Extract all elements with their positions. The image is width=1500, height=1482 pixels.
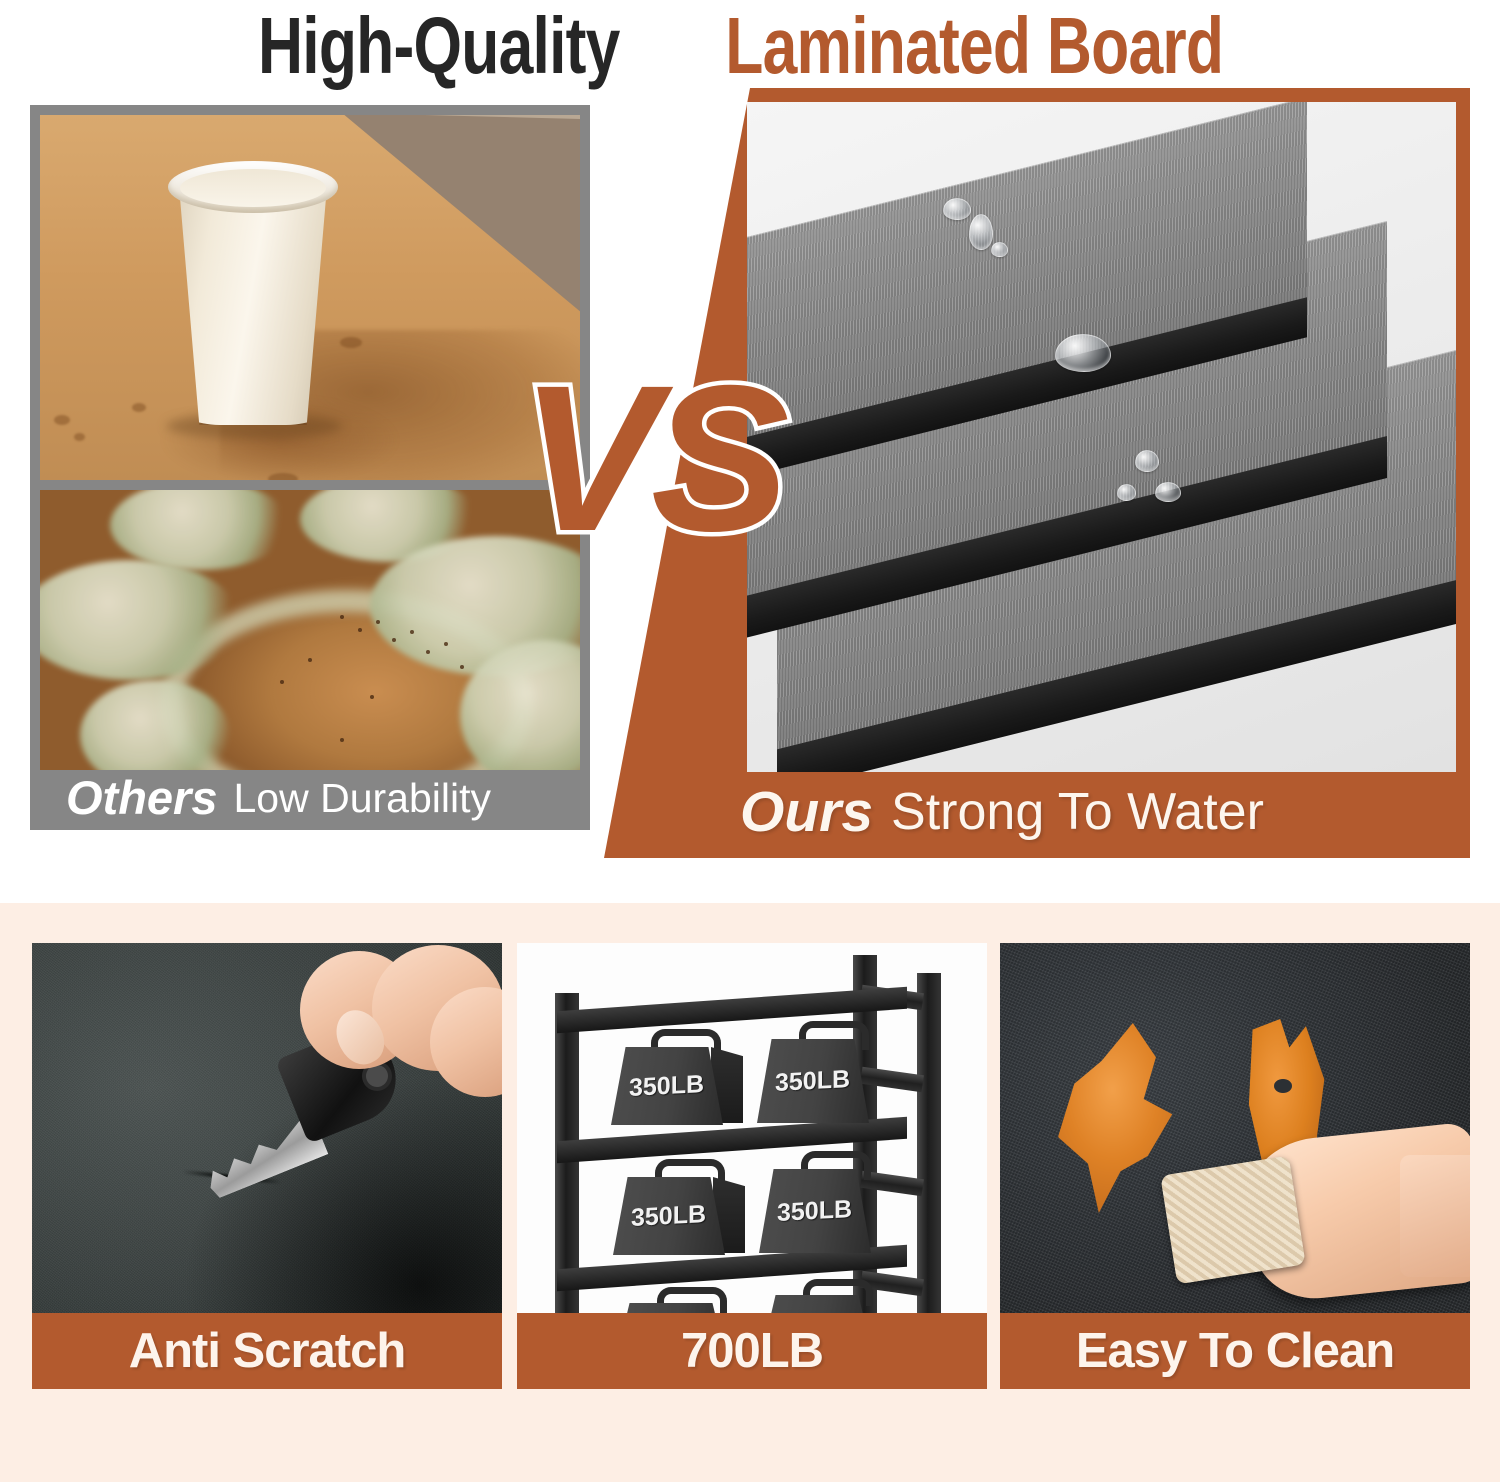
feature-card-easy-clean: Easy To Clean	[1000, 943, 1470, 1443]
feature-caption-label: 700LB	[681, 1323, 823, 1379]
feature-card-anti-scratch: Anti Scratch	[32, 943, 502, 1443]
wrist	[1400, 1155, 1470, 1277]
droplet-icon	[54, 415, 70, 425]
feature-caption-label: Easy To Clean	[1076, 1323, 1394, 1379]
water-drop-icon	[1155, 482, 1181, 502]
shelf-post-left	[555, 993, 579, 1355]
droplet-icon	[132, 403, 146, 412]
features-section: Anti Scratch 350LB	[0, 903, 1500, 1482]
ours-light-label: Strong To Water	[891, 781, 1264, 843]
others-strong-label: Others	[66, 773, 218, 823]
paper-cup	[160, 155, 345, 427]
water-drop-icon	[969, 214, 993, 250]
feature-caption-label: Anti Scratch	[129, 1323, 406, 1379]
others-spill-photo	[40, 115, 580, 480]
cup-interior	[180, 169, 326, 207]
feature-caption-banner: Easy To Clean	[1000, 1313, 1470, 1389]
anti-scratch-photo	[32, 943, 502, 1355]
others-mold-photo	[40, 490, 580, 770]
weight-block: 350LB	[757, 1039, 869, 1123]
headline-part-one: High-Quality	[258, 6, 620, 86]
easy-clean-photo	[1000, 943, 1470, 1355]
water-drop-icon	[1117, 484, 1136, 501]
weight-label: 350LB	[629, 1070, 704, 1103]
feature-caption-banner: Anti Scratch	[32, 1313, 502, 1389]
shelving-photo: 350LB 350LB 350LB 350LB	[517, 943, 987, 1355]
droplet-icon	[268, 473, 298, 480]
ours-comparison-card: Ours Strong To Water	[575, 88, 1470, 858]
weight-label: 350LB	[775, 1065, 850, 1098]
page-title: High-Quality Laminated Board	[0, 0, 1500, 92]
ours-board-photo	[747, 102, 1456, 772]
comparison-section: High-Quality Laminated Board	[0, 0, 1500, 903]
others-light-label: Low Durability	[234, 773, 492, 823]
ours-strong-label: Ours	[740, 781, 873, 843]
water-drop-icon	[1135, 450, 1159, 472]
water-drop-icon	[1055, 334, 1111, 372]
cleaning-cloth	[1160, 1156, 1306, 1285]
weight-block: 350LB	[613, 1177, 725, 1255]
others-label-banner: Others Low Durability	[30, 765, 590, 830]
weight-label: 350LB	[631, 1200, 706, 1233]
shelf-post-right	[917, 973, 941, 1355]
water-drop-icon	[991, 242, 1008, 257]
ours-label-banner: Ours Strong To Water	[575, 766, 1470, 858]
feature-card-capacity: 350LB 350LB 350LB 350LB 700LB	[517, 943, 987, 1443]
droplet-icon	[74, 433, 85, 441]
others-comparison-card: Others Low Durability	[30, 105, 590, 830]
water-drop-icon	[943, 198, 971, 220]
headline-part-two: Laminated Board	[725, 6, 1223, 86]
feature-caption-banner: 700LB	[517, 1313, 987, 1389]
weight-label: 350LB	[777, 1195, 852, 1228]
weight-block: 350LB	[611, 1047, 723, 1125]
cup-body	[174, 183, 332, 425]
weight-block: 350LB	[759, 1169, 871, 1253]
spill-hole	[1274, 1079, 1292, 1093]
